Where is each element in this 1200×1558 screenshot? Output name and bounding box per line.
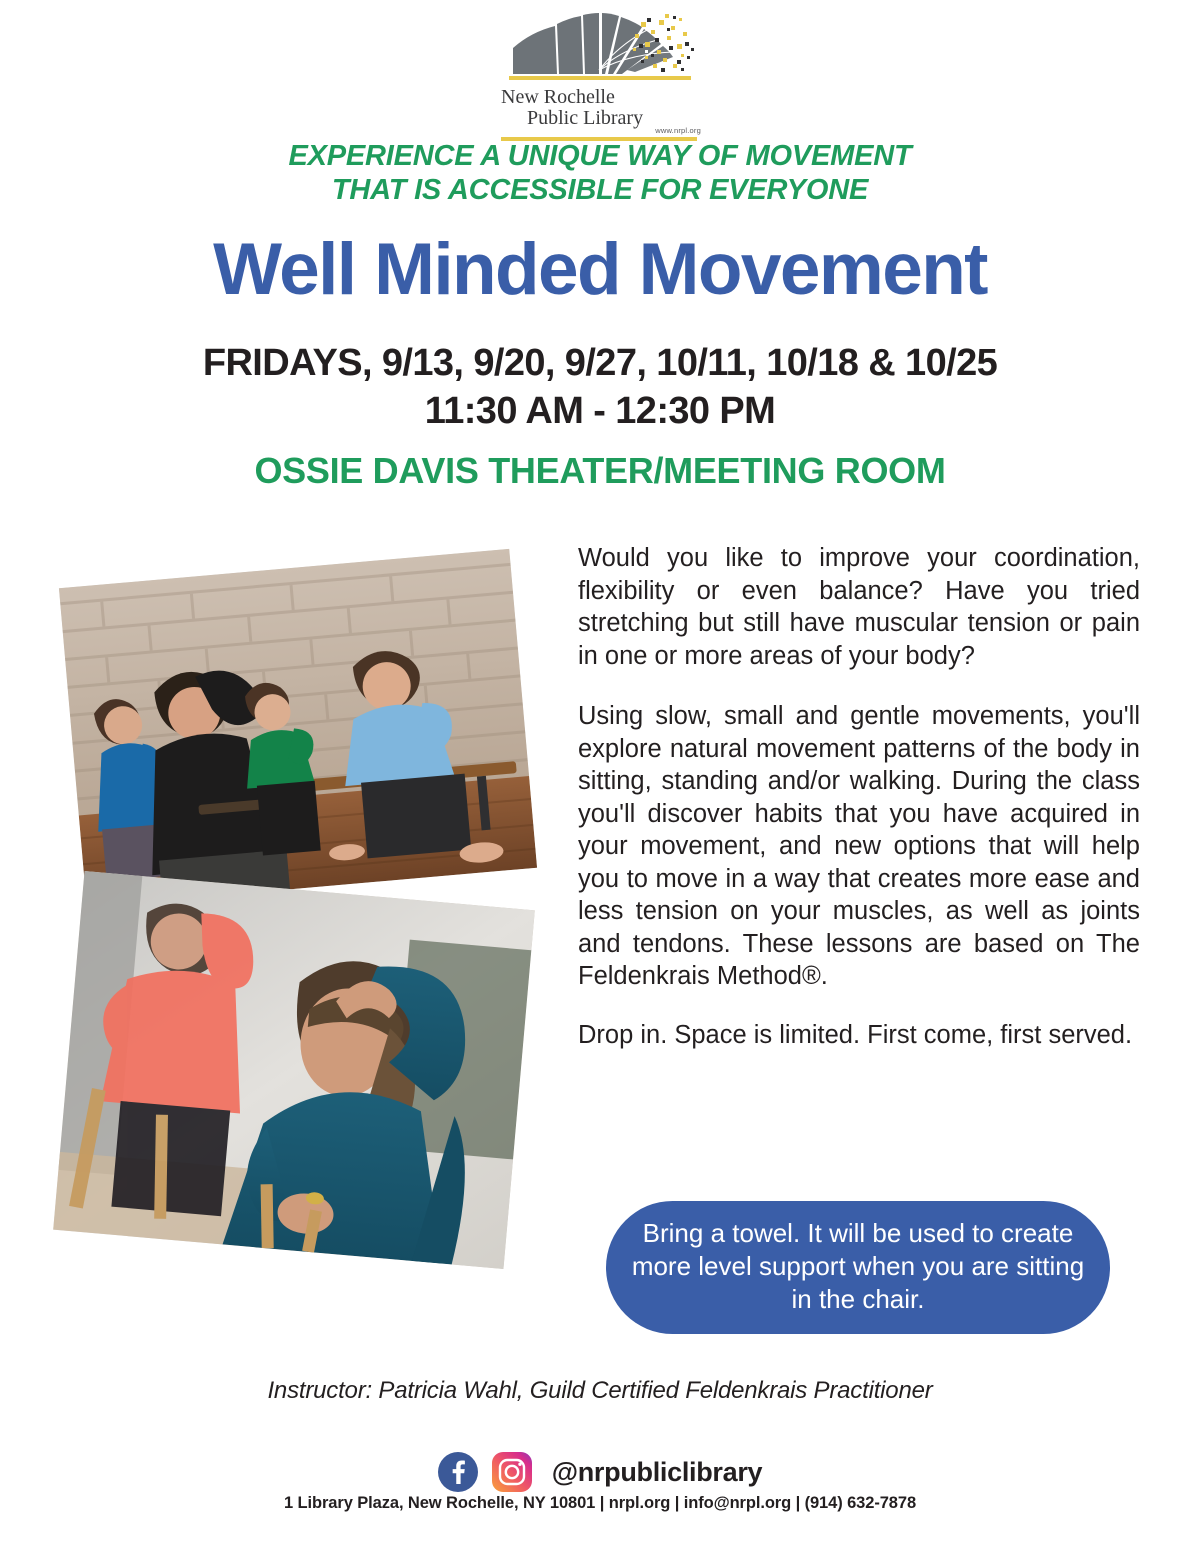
instagram-icon[interactable]: [492, 1452, 532, 1492]
body-paragraph-2: Using slow, small and gentle movements, …: [578, 700, 1140, 993]
two-women-neck-stretch-photo: [53, 871, 535, 1269]
social-links: @nrpubliclibrary: [0, 1452, 1200, 1492]
group-chair-stretch-photo: [59, 549, 537, 907]
logo-library-name: New Rochelle Public Library: [495, 87, 705, 129]
page-title: Well Minded Movement: [0, 228, 1200, 312]
tagline-line-1: EXPERIENCE A UNIQUE WAY OF MOVEMENT: [0, 139, 1200, 173]
library-logo: New Rochelle Public Library www.nrpl.org: [0, 8, 1200, 141]
event-time: 11:30 AM - 12:30 PM: [0, 387, 1200, 435]
event-venue: OSSIE DAVIS THEATER/MEETING ROOM: [0, 450, 1200, 492]
instructor-credit: Instructor: Patricia Wahl, Guild Certifi…: [0, 1377, 1200, 1405]
tagline-line-2: THAT IS ACCESSIBLE FOR EVERYONE: [0, 173, 1200, 207]
towel-callout: Bring a towel. It will be used to create…: [606, 1201, 1110, 1334]
body-paragraph-3: Drop in. Space is limited. First come, f…: [578, 1019, 1140, 1052]
body-copy: Would you like to improve your coordinat…: [578, 542, 1140, 1051]
event-dates: FRIDAYS, 9/13, 9/20, 9/27, 10/11, 10/18 …: [0, 339, 1200, 387]
social-handle: @nrpubliclibrary: [552, 1457, 763, 1488]
contact-address: 1 Library Plaza, New Rochelle, NY 10801 …: [0, 1494, 1200, 1513]
event-schedule: FRIDAYS, 9/13, 9/20, 9/27, 10/11, 10/18 …: [0, 339, 1200, 435]
facebook-icon[interactable]: [438, 1452, 478, 1492]
tagline: EXPERIENCE A UNIQUE WAY OF MOVEMENT THAT…: [0, 139, 1200, 207]
body-paragraph-1: Would you like to improve your coordinat…: [578, 542, 1140, 672]
fanned-book-pages-logo: [495, 8, 705, 86]
